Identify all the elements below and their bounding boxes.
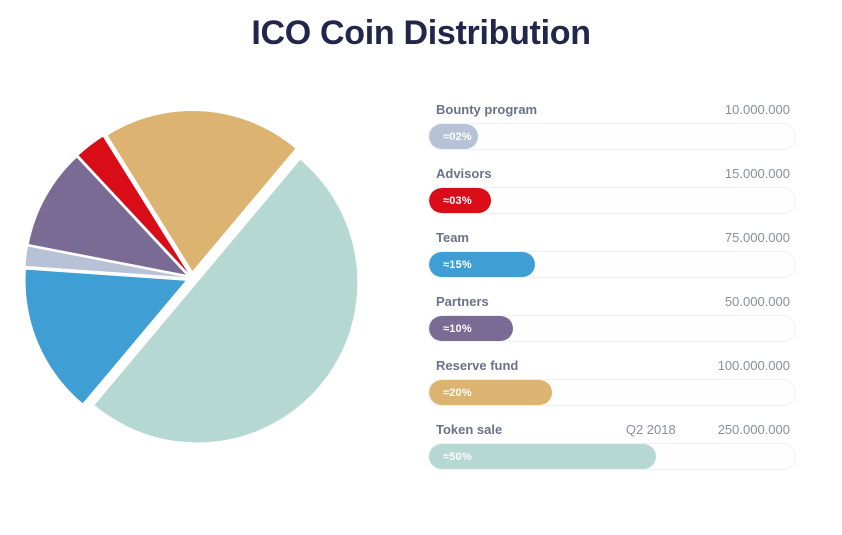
legend-value: 250.000.000: [718, 422, 790, 437]
legend-row-header: Reserve fund 100.000.000: [428, 358, 796, 373]
legend-label: Token sale: [436, 422, 502, 437]
progress-percent-label: ≈02%: [443, 131, 472, 143]
legend-value: 10.000.000: [725, 102, 790, 117]
legend-middle: Q2 2018: [502, 422, 717, 437]
progress-fill: ≈15%: [429, 252, 535, 277]
progress-track[interactable]: ≈02%: [428, 123, 796, 150]
legend-value: 15.000.000: [725, 166, 790, 181]
progress-fill: ≈10%: [429, 316, 513, 341]
list-item[interactable]: Reserve fund 100.000.000 ≈20%: [428, 358, 796, 406]
list-item[interactable]: Team 75.000.000 ≈15%: [428, 230, 796, 278]
progress-track[interactable]: ≈15%: [428, 251, 796, 278]
progress-percent-label: ≈15%: [443, 259, 472, 271]
list-item[interactable]: Advisors 15.000.000 ≈03%: [428, 166, 796, 214]
page-title: ICO Coin Distribution: [0, 14, 842, 53]
pie-chart-svg: [12, 88, 412, 468]
legend-label: Partners: [436, 294, 489, 309]
progress-percent-label: ≈10%: [443, 323, 472, 335]
legend-row-header: Bounty program 10.000.000: [428, 102, 796, 117]
legend-value: 100.000.000: [718, 358, 790, 373]
progress-track[interactable]: ≈10%: [428, 315, 796, 342]
distribution-legend: Bounty program 10.000.000 ≈02% Advisors …: [428, 102, 796, 486]
progress-fill: ≈50%: [429, 444, 656, 469]
legend-label: Reserve fund: [436, 358, 518, 373]
progress-fill: ≈02%: [429, 124, 478, 149]
progress-fill: ≈20%: [429, 380, 552, 405]
progress-percent-label: ≈20%: [443, 387, 472, 399]
progress-track[interactable]: ≈03%: [428, 187, 796, 214]
list-item[interactable]: Bounty program 10.000.000 ≈02%: [428, 102, 796, 150]
legend-label: Advisors: [436, 166, 492, 181]
legend-label: Team: [436, 230, 469, 245]
list-item[interactable]: Token sale Q2 2018 250.000.000 ≈50%: [428, 422, 796, 470]
legend-value: 50.000.000: [725, 294, 790, 309]
legend-row-header: Partners 50.000.000: [428, 294, 796, 309]
legend-row-header: Advisors 15.000.000: [428, 166, 796, 181]
list-item[interactable]: Partners 50.000.000 ≈10%: [428, 294, 796, 342]
legend-label: Bounty program: [436, 102, 537, 117]
progress-percent-label: ≈03%: [443, 195, 472, 207]
legend-row-header: Token sale Q2 2018 250.000.000: [428, 422, 796, 437]
progress-track[interactable]: ≈20%: [428, 379, 796, 406]
content-area: Bounty program 10.000.000 ≈02% Advisors …: [0, 88, 842, 535]
progress-percent-label: ≈50%: [443, 451, 472, 463]
progress-track[interactable]: ≈50%: [428, 443, 796, 470]
progress-fill: ≈03%: [429, 188, 491, 213]
legend-row-header: Team 75.000.000: [428, 230, 796, 245]
pie-chart: [12, 88, 412, 468]
legend-value: 75.000.000: [725, 230, 790, 245]
